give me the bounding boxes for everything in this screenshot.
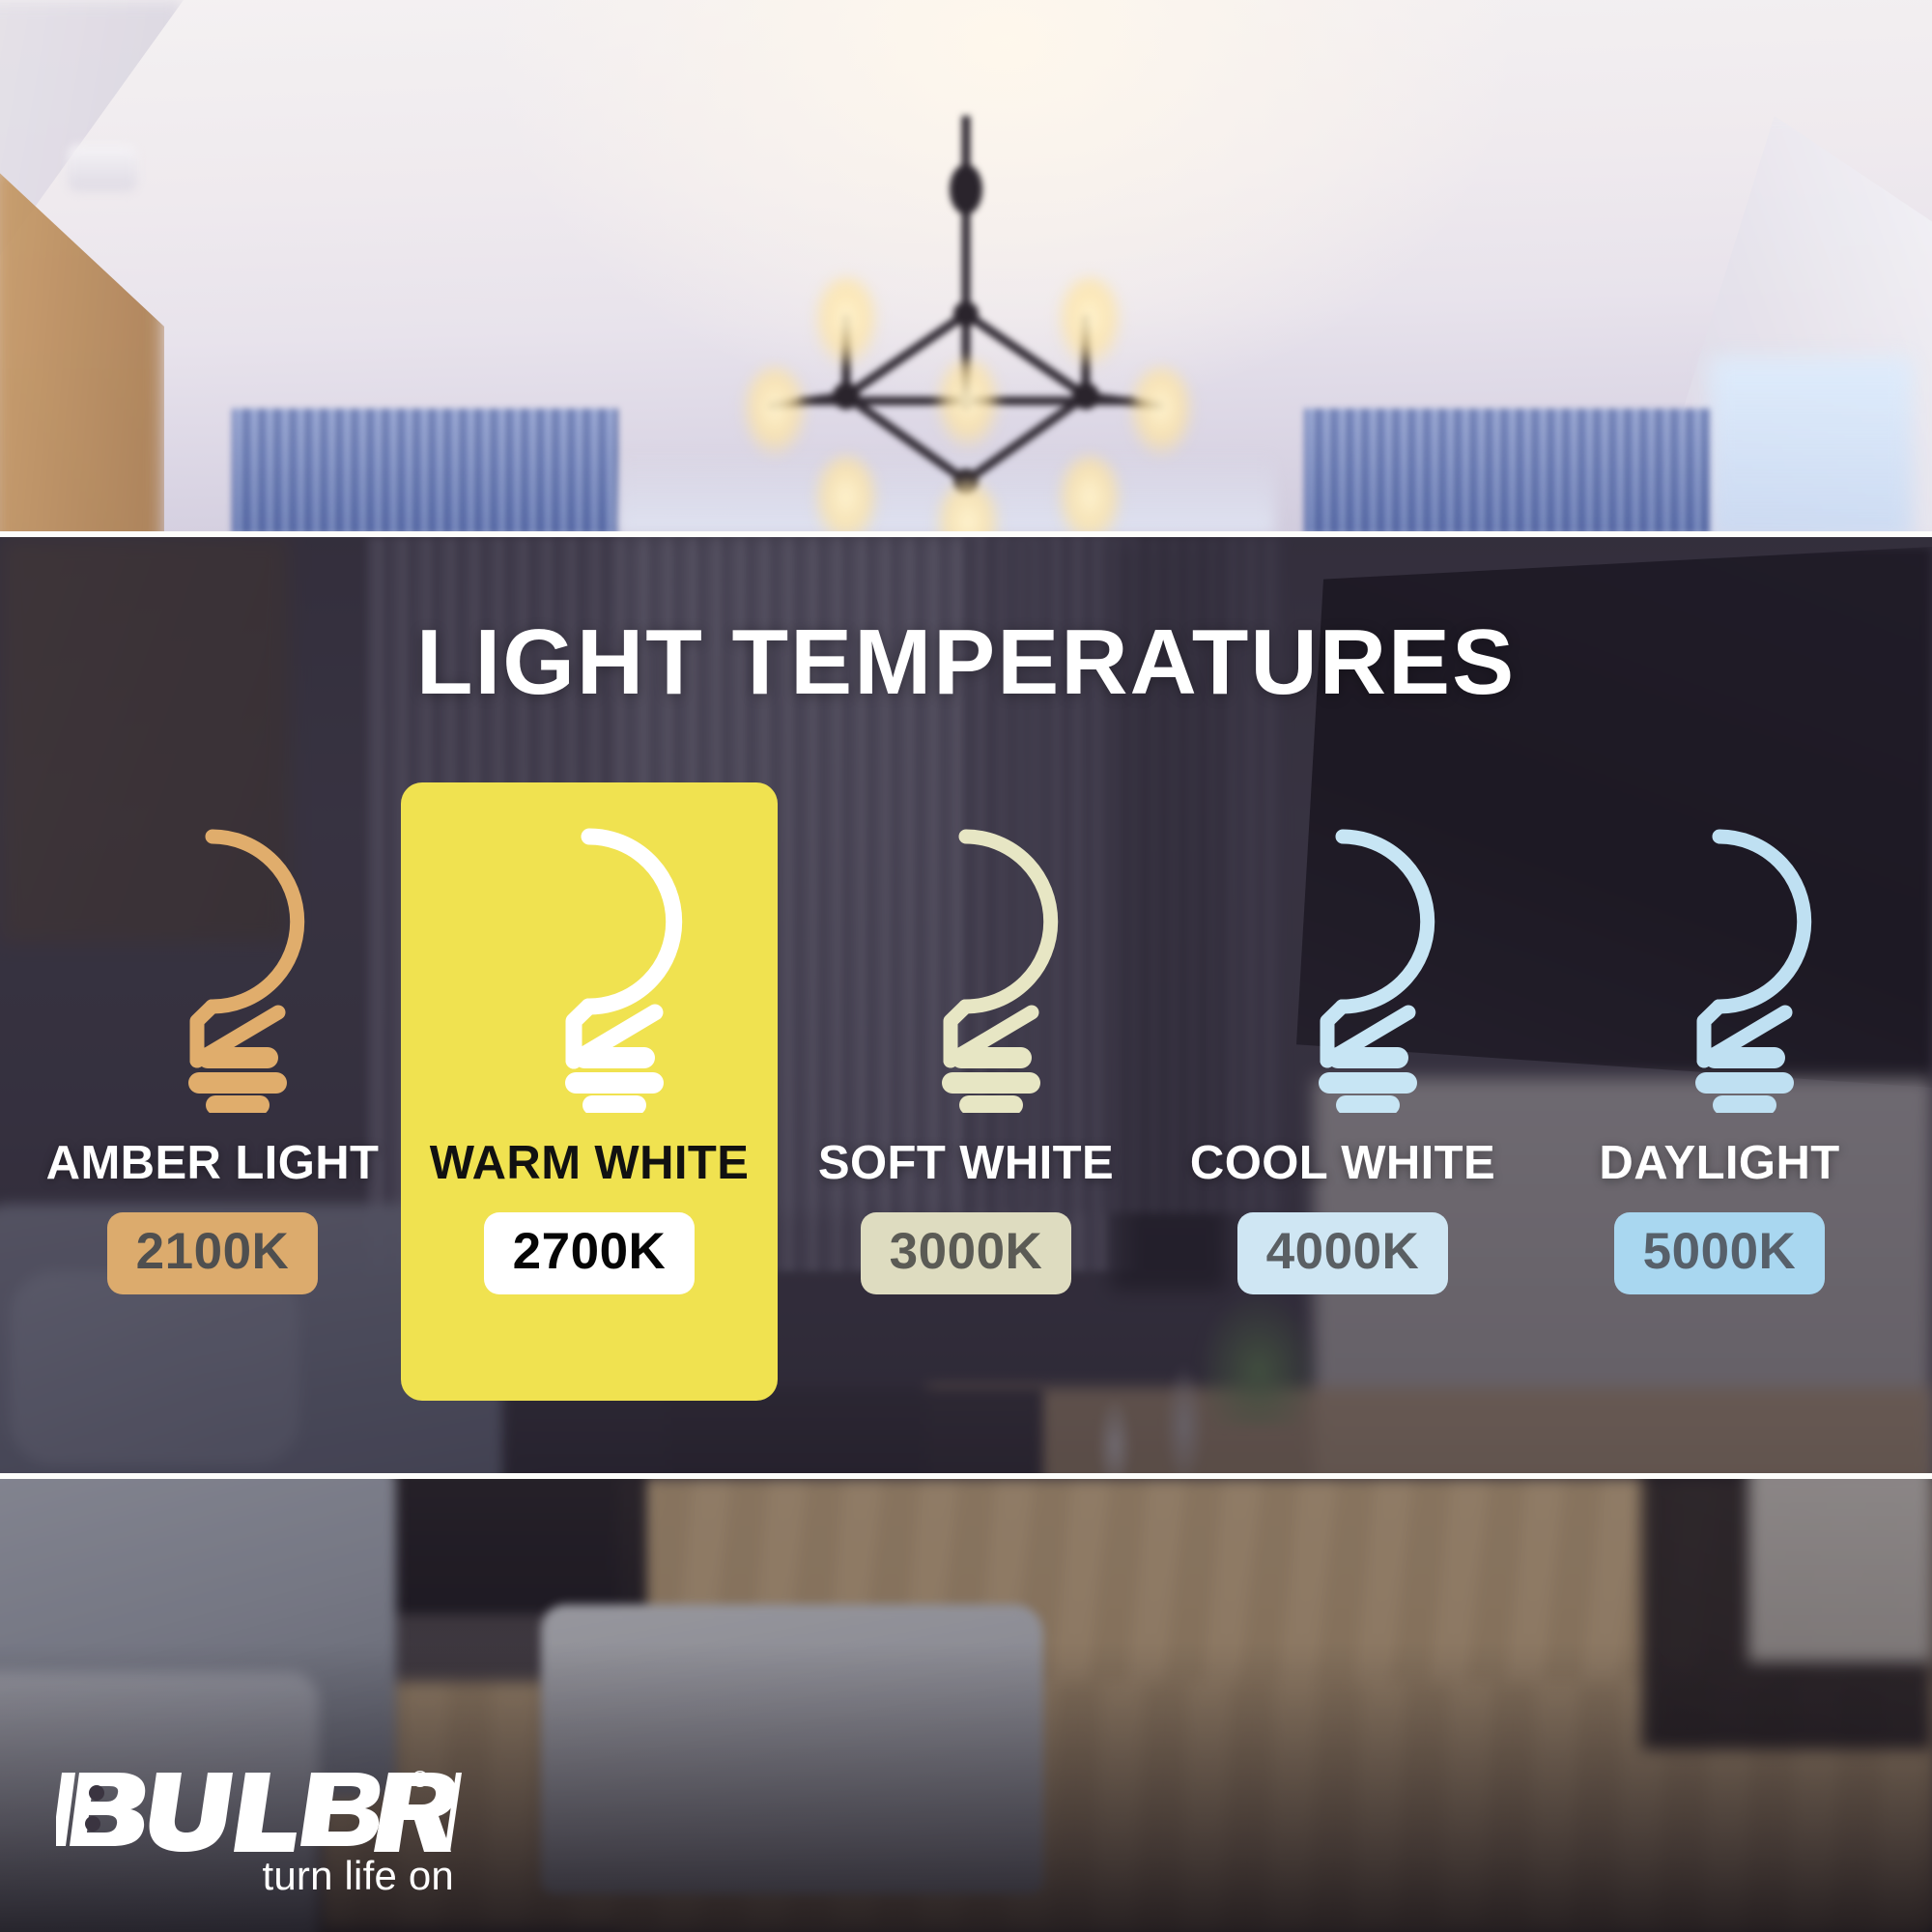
bulbrite-b-logo-icon [56,1767,462,1852]
chandelier-bulb [1126,365,1196,460]
temperature-name: DAYLIGHT [1599,1140,1839,1187]
page-title: LIGHT TEMPERATURES [0,616,1932,709]
kelvin-badge: 4000K [1237,1212,1449,1294]
chandelier-bulb [811,275,881,370]
temperature-name: WARM WHITE [430,1140,750,1187]
light-bulb-icon [1230,823,1456,1113]
top-photo-chandelier [0,0,1932,534]
light-bulb-icon [99,823,326,1113]
kelvin-badge: 2100K [107,1212,319,1294]
light-bulb-icon [853,823,1079,1113]
kelvin-badge: 5000K [1614,1212,1826,1294]
temperature-card-soft-white[interactable]: SOFT WHITE 3000K [778,782,1154,1401]
wall-light-left [68,145,137,191]
chandelier-bulb [740,365,810,460]
light-bulb-icon [476,823,702,1113]
brand-tagline: turn life on [262,1856,454,1896]
chandelier-bulb [933,357,1003,452]
chandelier-icon [657,116,1275,531]
temperature-name: AMBER LIGHT [46,1140,380,1187]
registered-trademark-symbol: ® [412,1769,429,1792]
marketing-graphic: LIGHT TEMPERATURES [0,0,1932,1932]
window-glow-right [1710,357,1913,534]
brand-logo[interactable]: ® turn life on [56,1767,462,1902]
kelvin-badge: 2700K [484,1212,696,1294]
temperature-card-warm-white[interactable]: WARM WHITE 2700K [401,782,778,1401]
curtain-right [1304,409,1710,534]
temperature-card-amber-light[interactable]: AMBER LIGHT 2100K [24,782,401,1401]
wood-wall-left [0,164,164,534]
temperature-card-cool-white[interactable]: COOL WHITE 4000K [1154,782,1531,1401]
temperature-list: AMBER LIGHT 2100K [0,782,1932,1420]
kelvin-badge: 3000K [861,1212,1072,1294]
temperature-card-daylight[interactable]: DAYLIGHT 5000K [1531,782,1908,1401]
temperature-name: SOFT WHITE [818,1140,1114,1187]
divider-top [0,531,1932,537]
light-temperatures-panel: LIGHT TEMPERATURES [0,537,1932,1476]
curtain-left [232,409,618,534]
temperature-name: COOL WHITE [1190,1140,1495,1187]
light-bulb-icon [1606,823,1833,1113]
divider-bottom [0,1473,1932,1479]
chandelier-bulb [1055,275,1124,370]
